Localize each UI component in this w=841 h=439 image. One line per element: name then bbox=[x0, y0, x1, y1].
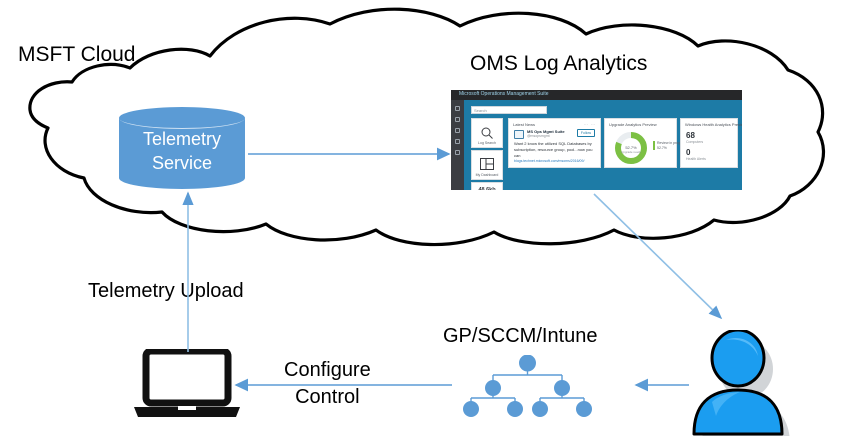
arrow-connectors bbox=[0, 0, 841, 439]
arrow-oms-to-admin bbox=[594, 194, 721, 318]
diagram-canvas: MSFT Cloud OMS Log Analytics Telemetry U… bbox=[0, 0, 841, 439]
